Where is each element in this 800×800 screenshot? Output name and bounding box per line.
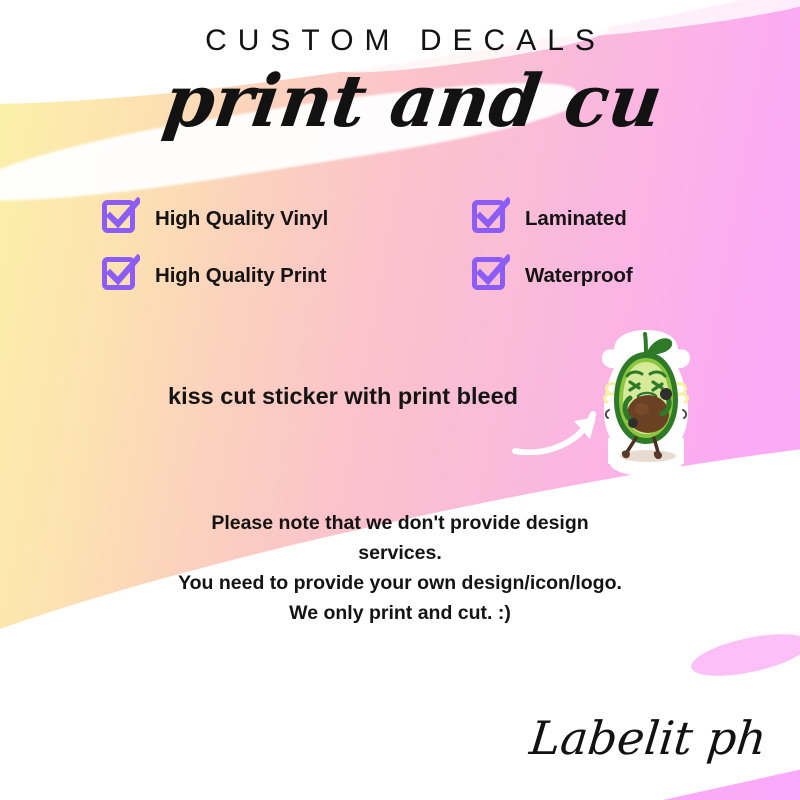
feature-item-waterproof[interactable]: Waterproof bbox=[470, 253, 720, 298]
note-line-4: We only print and cut. :) bbox=[0, 598, 800, 628]
checkbox-checked-icon[interactable] bbox=[100, 196, 140, 241]
note-line-2: services. bbox=[0, 538, 800, 568]
svg-text:Labelit ph: Labelit ph bbox=[526, 711, 769, 765]
feature-label: High Quality Vinyl bbox=[155, 207, 328, 231]
page-title: CUSTOM DECALS bbox=[0, 24, 800, 58]
feature-label: High Quality Print bbox=[155, 264, 326, 288]
feature-list: High Quality Vinyl Laminated High Qualit… bbox=[100, 190, 720, 304]
kiss-cut-callout-text: kiss cut sticker with print bleed bbox=[168, 383, 518, 410]
feature-item-high-quality-print[interactable]: High Quality Print bbox=[100, 253, 470, 298]
checkbox-checked-icon[interactable] bbox=[470, 253, 510, 298]
feature-item-laminated[interactable]: Laminated bbox=[470, 196, 720, 241]
checkbox-checked-icon[interactable] bbox=[100, 253, 140, 298]
note-line-3: You need to provide your own design/icon… bbox=[0, 568, 800, 598]
feature-label: Waterproof bbox=[525, 264, 633, 288]
disclaimer-note: Please note that we don't provide design… bbox=[0, 508, 800, 628]
checkbox-checked-icon[interactable] bbox=[470, 196, 510, 241]
avocado-sticker bbox=[586, 326, 706, 478]
feature-label: Laminated bbox=[525, 207, 627, 231]
note-line-1: Please note that we don't provide design bbox=[0, 508, 800, 538]
avocado-hand-right bbox=[660, 388, 672, 400]
poster-canvas: CUSTOM DECALS print and cut High Quality… bbox=[0, 0, 800, 800]
brand-signature: Labelit ph bbox=[522, 692, 772, 778]
feature-item-high-quality-vinyl[interactable]: High Quality Vinyl bbox=[100, 196, 470, 241]
avocado-hand-left bbox=[628, 418, 638, 428]
